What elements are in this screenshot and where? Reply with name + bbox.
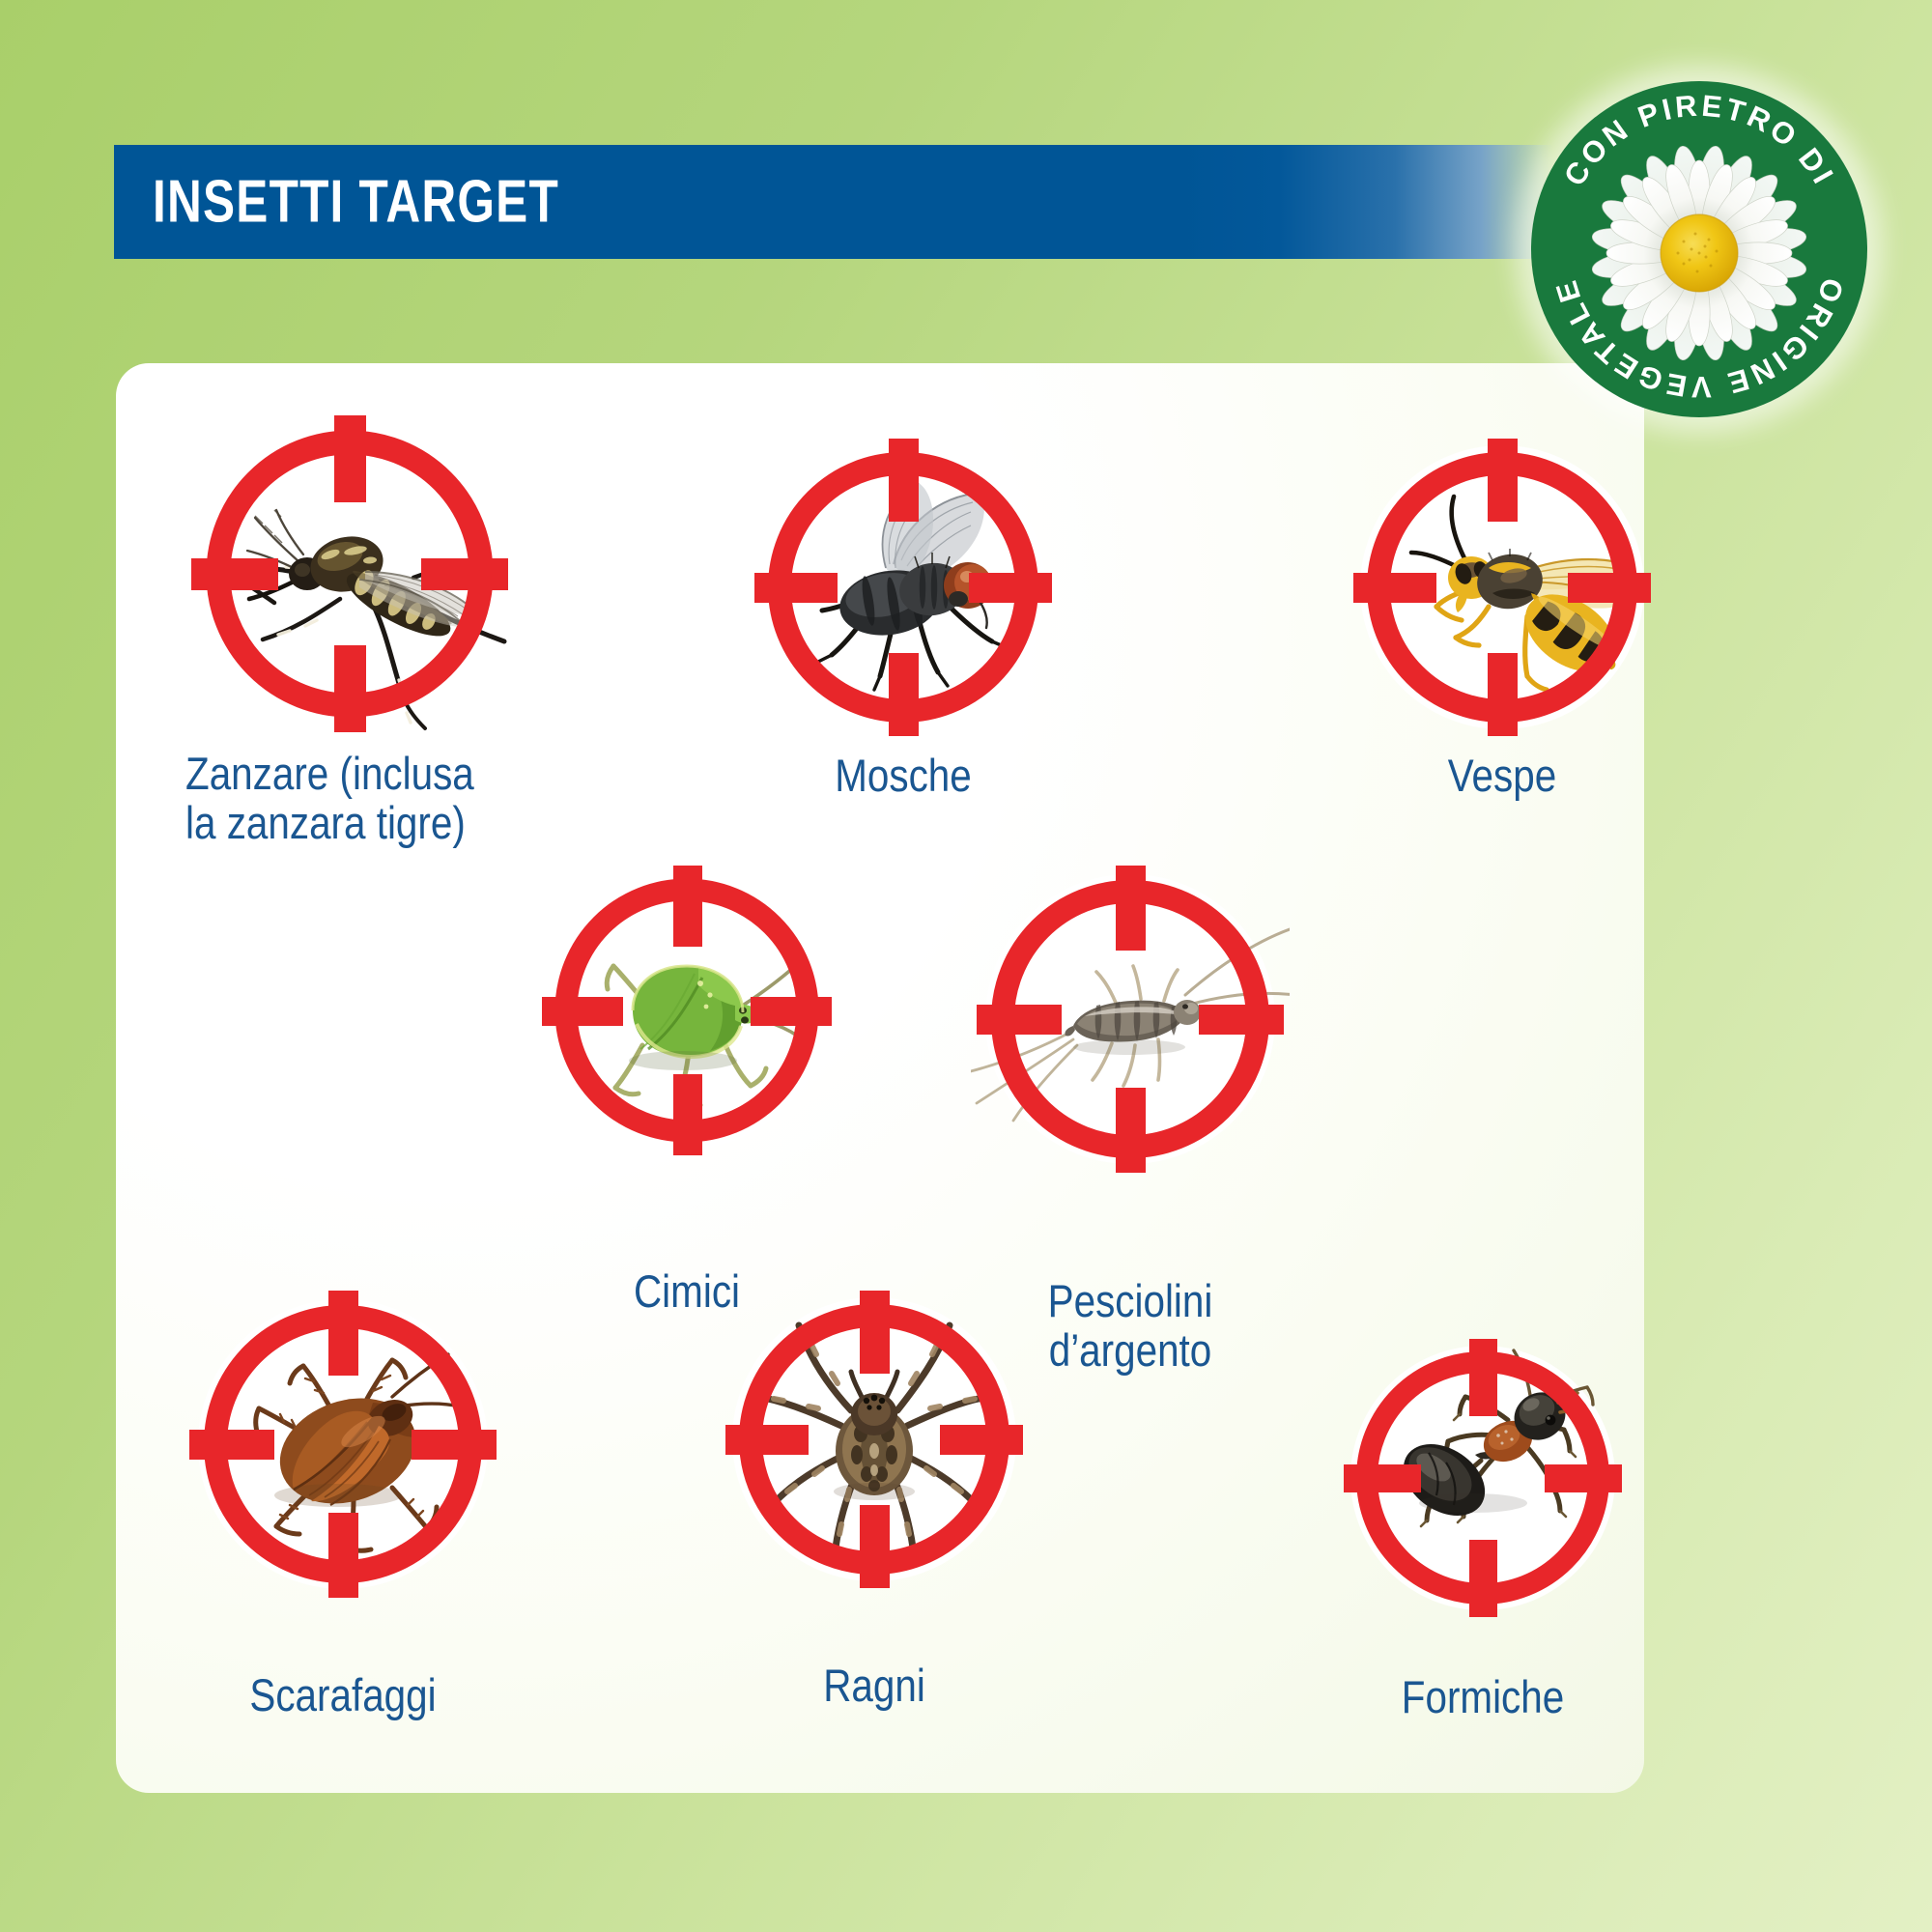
reticle-mosche [749,433,1058,742]
pyrethrum-origin-badge: CON PIRETRO DI ORIGINE VEGETALE [1531,81,1867,417]
target-cell-scarafaggi: Scarafaggi [184,1285,502,1604]
target-cell-zanzare: Zanzare (inclusa la zanzara tigre) [185,410,514,738]
page-title: INSETTI TARGET [153,168,559,237]
label-scarafaggi: Scarafaggi [249,1671,436,1720]
target-cell-cimici: Cimici [536,860,838,1161]
label-formiche: Formiche [1402,1673,1564,1722]
section-header-banner: INSETTI TARGET [114,145,1553,259]
target-cell-ragni: Ragni [720,1285,1029,1594]
reticle-ragni [720,1285,1029,1594]
reticle-zanzare [185,410,514,738]
label-pesciolini: Pesciolini d’argento [1048,1277,1213,1376]
label-mosche: Mosche [835,752,972,801]
reticle-scarafaggi [184,1285,502,1604]
target-cell-vespe: Vespe [1348,433,1657,742]
reticle-formiche [1338,1333,1628,1623]
target-cell-mosche: Mosche [749,433,1058,742]
label-ragni: Ragni [823,1662,925,1711]
daisy-flower-icon [1590,144,1807,361]
target-cell-formiche: Formiche [1338,1333,1628,1623]
reticle-pesciolini [971,860,1290,1179]
reticle-vespe [1348,433,1657,742]
label-vespe: Vespe [1448,752,1556,801]
target-cell-pesciolini: Pesciolini d’argento [971,860,1290,1179]
label-zanzare: Zanzare (inclusa la zanzara tigre) [185,750,534,848]
reticle-cimici [536,860,838,1161]
